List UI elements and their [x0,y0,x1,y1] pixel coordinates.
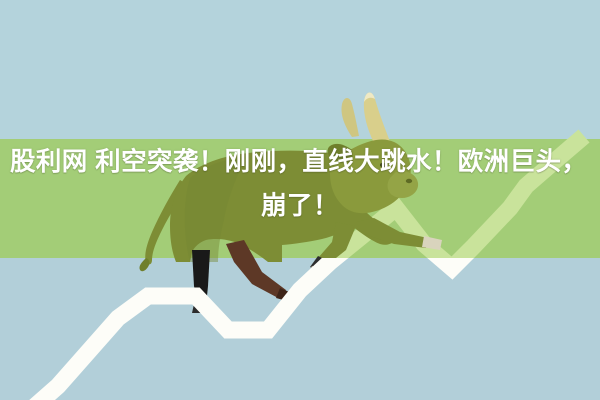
illustration-canvas: 股利网 利空突袭！刚刚，直线大跳水！欧洲巨头， 崩了！ [0,0,600,400]
bull-tail-tuft [139,258,149,271]
bull-horn-rear-icon [341,98,359,137]
bull-horn-front-icon [364,93,391,148]
bull-nostril [406,179,412,183]
bull-eye [380,163,386,168]
bull-and-chart-artwork [0,0,600,400]
